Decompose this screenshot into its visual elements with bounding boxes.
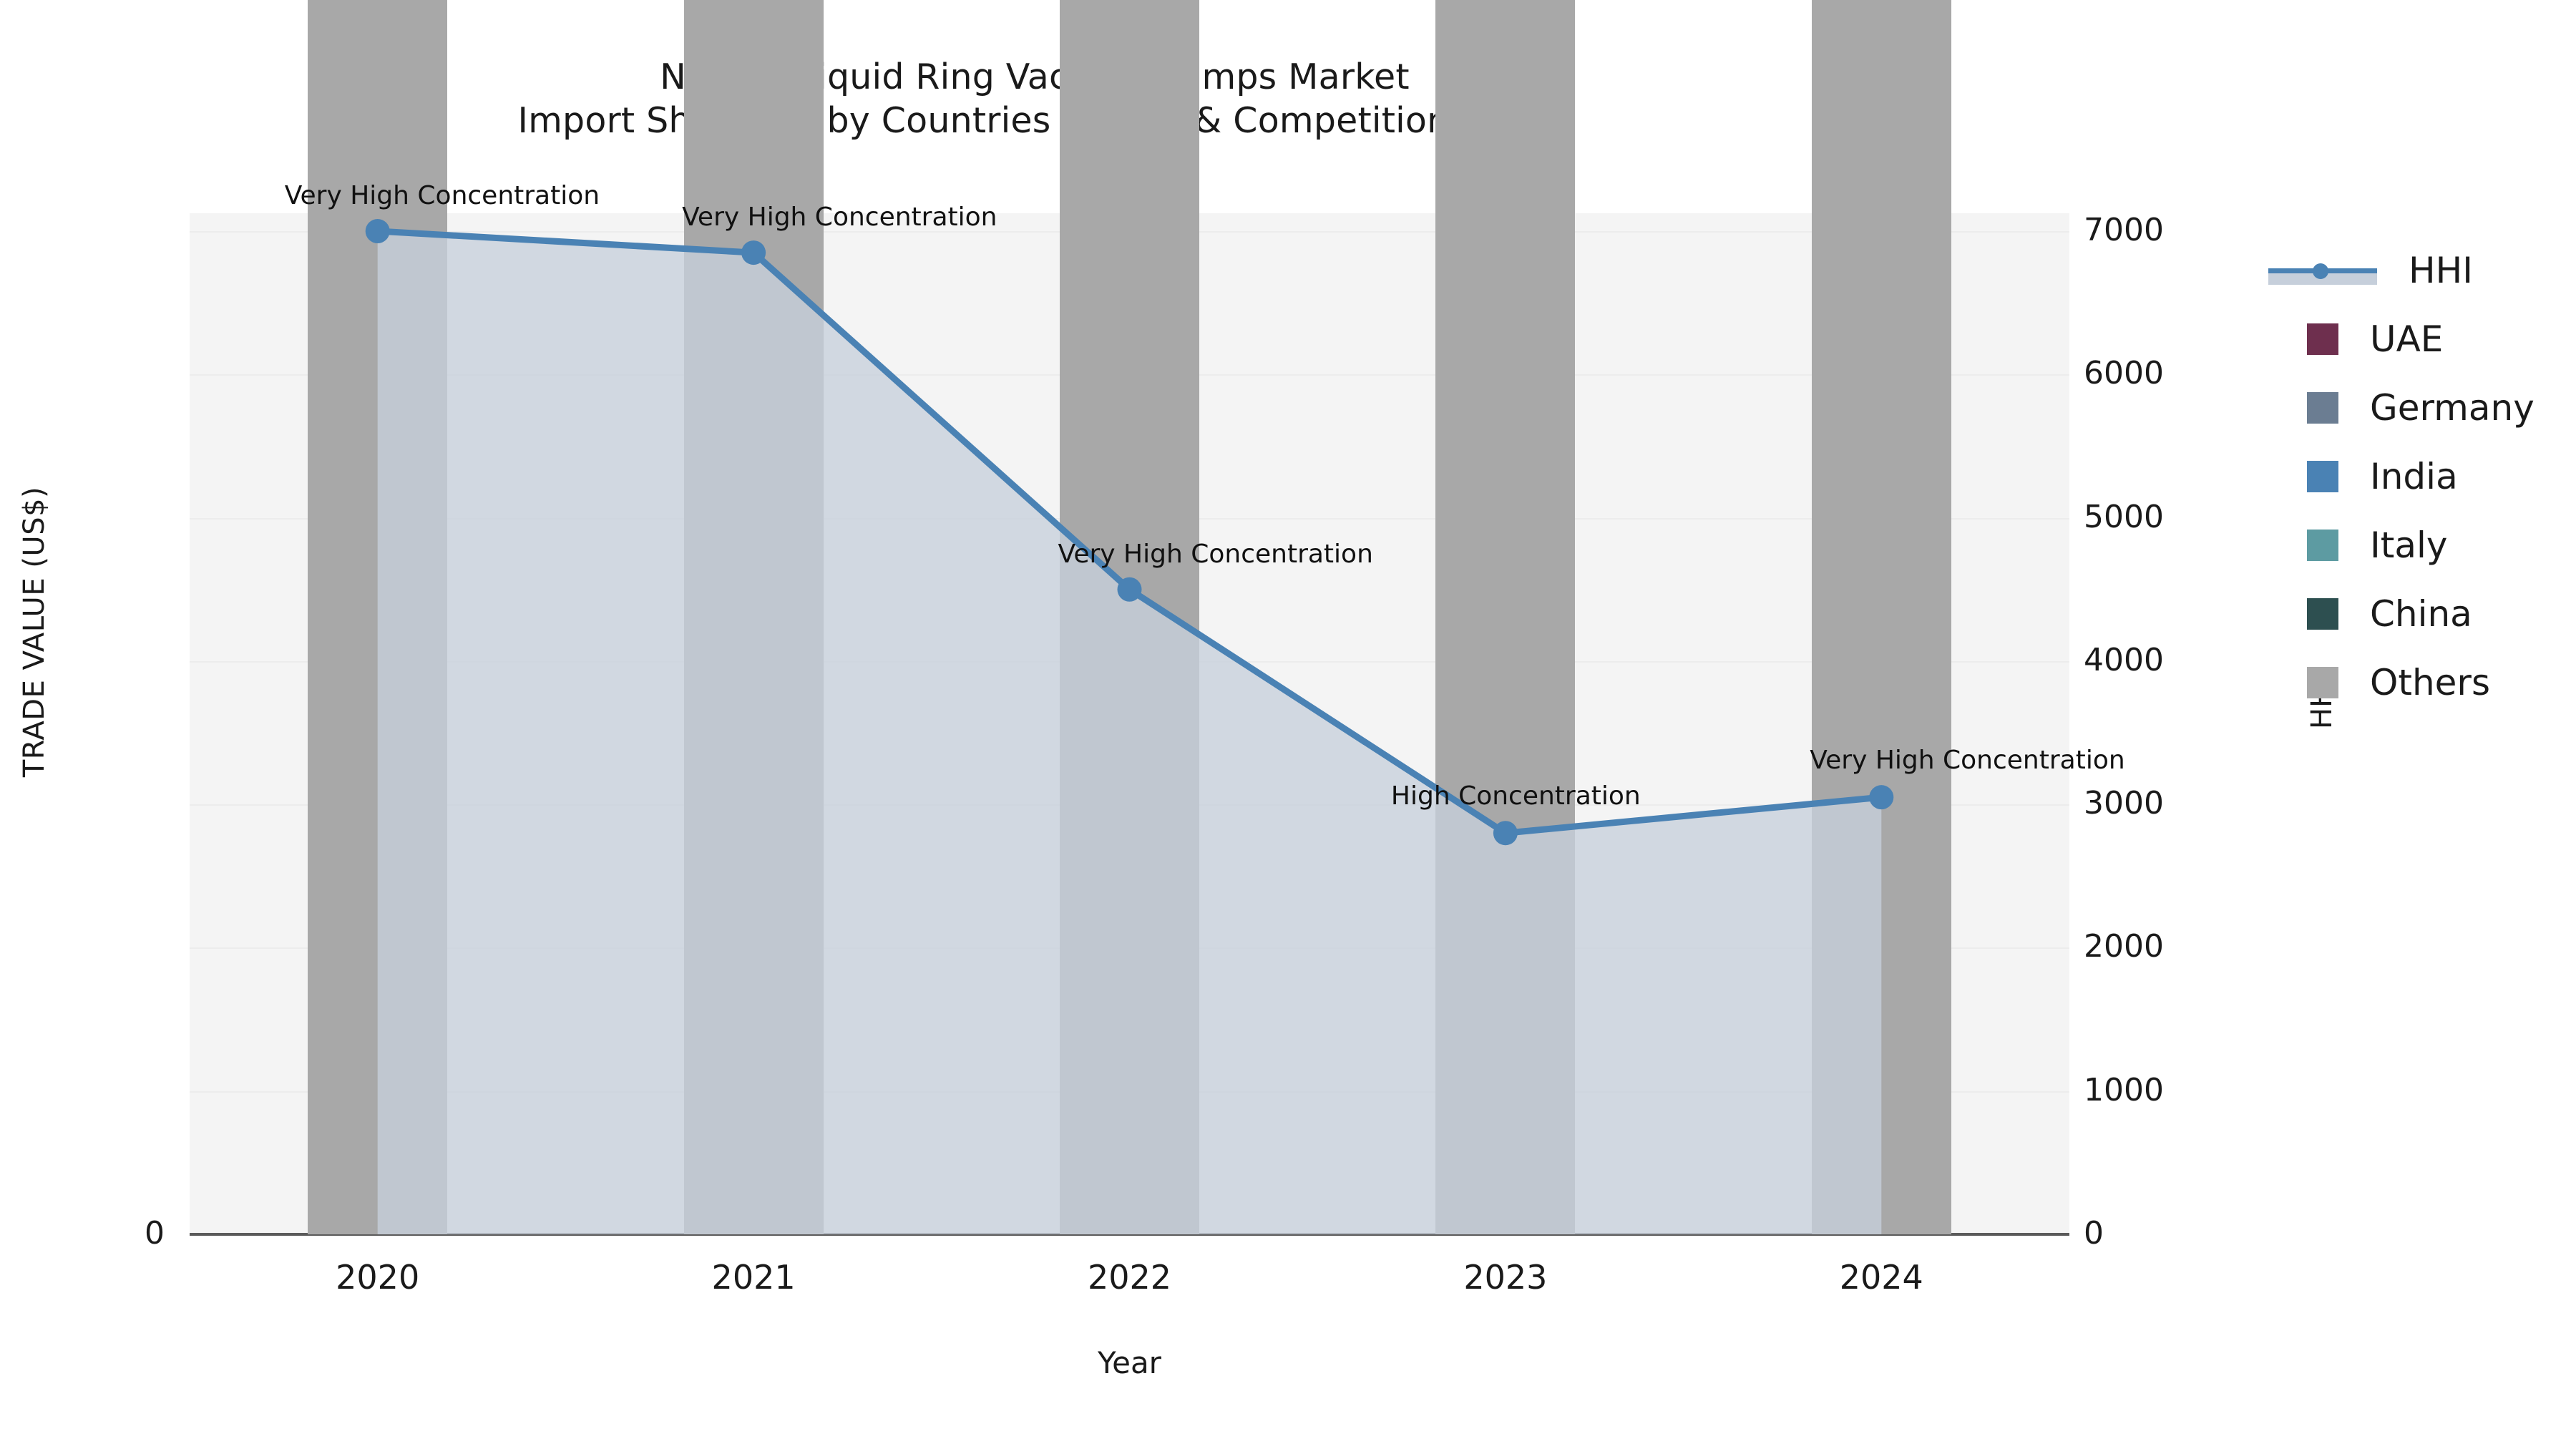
legend-swatch-germany: [2307, 392, 2338, 424]
legend-item-india[interactable]: India: [2268, 442, 2569, 511]
bar-segment-others-2022[interactable]: [1060, 0, 1199, 1234]
y-axis-right-tick-label: 7000: [2084, 212, 2164, 248]
bar-stack-2024[interactable]: [1812, 213, 1951, 1234]
y-axis-left-title: TRADE VALUE (US$): [18, 446, 51, 818]
x-axis-title: Year: [190, 1345, 2069, 1380]
legend-label-uae: UAE: [2370, 318, 2443, 360]
x-axis-tick-label-2020: 2020: [270, 1258, 485, 1297]
bar-stack-2022[interactable]: [1060, 213, 1199, 1234]
legend-swatch-italy: [2307, 530, 2338, 561]
legend-line-key-icon: [2268, 255, 2377, 286]
hhi-annotation-2023: High Concentration: [1391, 781, 1641, 811]
legend-swatch-others: [2307, 667, 2338, 698]
x-axis-tick-label-2022: 2022: [1023, 1258, 1237, 1297]
y-axis-right-tick-label: 5000: [2084, 499, 2164, 535]
legend-label-others: Others: [2370, 662, 2490, 703]
chart-canvas: Nigeria Liquid Ring Vacuum Pumps Market …: [0, 0, 2576, 1449]
legend-swatch-china: [2307, 598, 2338, 630]
legend-marker-dot: [2313, 263, 2328, 279]
legend-swatch-uae: [2307, 323, 2338, 355]
legend-label-hhi: HHI: [2409, 250, 2473, 291]
x-axis-tick-label-2021: 2021: [646, 1258, 861, 1297]
legend-item-germany[interactable]: Germany: [2268, 374, 2569, 442]
hhi-annotation-2020: Very High Concentration: [285, 181, 600, 210]
y-axis-right-tick-label: 0: [2084, 1215, 2104, 1252]
legend-label-italy: Italy: [2370, 525, 2447, 566]
y-axis-right-tick-label: 1000: [2084, 1072, 2164, 1108]
legend-label-germany: Germany: [2370, 387, 2534, 429]
bar-segment-others-2021[interactable]: [684, 0, 824, 1234]
legend-swatch-india: [2307, 461, 2338, 492]
bar-stack-2021[interactable]: [684, 213, 824, 1234]
y-axis-right-tick-label: 3000: [2084, 785, 2164, 821]
legend-item-china[interactable]: China: [2268, 580, 2569, 648]
bar-segment-others-2023[interactable]: [1435, 0, 1575, 1234]
legend-item-hhi[interactable]: HHI: [2268, 236, 2569, 305]
y-axis-right-tick-label: 2000: [2084, 928, 2164, 965]
bars-layer: [190, 213, 2069, 1234]
legend: HHIUAEGermanyIndiaItalyChinaOthers: [2268, 236, 2569, 717]
hhi-annotation-2024: Very High Concentration: [1810, 746, 2124, 775]
bar-stack-2023[interactable]: [1435, 213, 1575, 1234]
legend-item-others[interactable]: Others: [2268, 648, 2569, 717]
y-axis-left-tick-label: 0: [0, 1215, 165, 1252]
hhi-annotation-2022: Very High Concentration: [1058, 540, 1373, 569]
legend-item-uae[interactable]: UAE: [2268, 305, 2569, 374]
bar-stack-2020[interactable]: [308, 213, 447, 1234]
x-axis-tick-label-2024: 2024: [1774, 1258, 1989, 1297]
hhi-annotation-2021: Very High Concentration: [682, 203, 997, 232]
legend-label-india: India: [2370, 456, 2458, 497]
x-axis-tick-label-2023: 2023: [1398, 1258, 1613, 1297]
legend-label-china: China: [2370, 593, 2472, 635]
legend-item-italy[interactable]: Italy: [2268, 511, 2569, 580]
bar-segment-others-2024[interactable]: [1812, 0, 1951, 1234]
y-axis-right-tick-label: 4000: [2084, 642, 2164, 678]
y-axis-right-tick-label: 6000: [2084, 355, 2164, 391]
